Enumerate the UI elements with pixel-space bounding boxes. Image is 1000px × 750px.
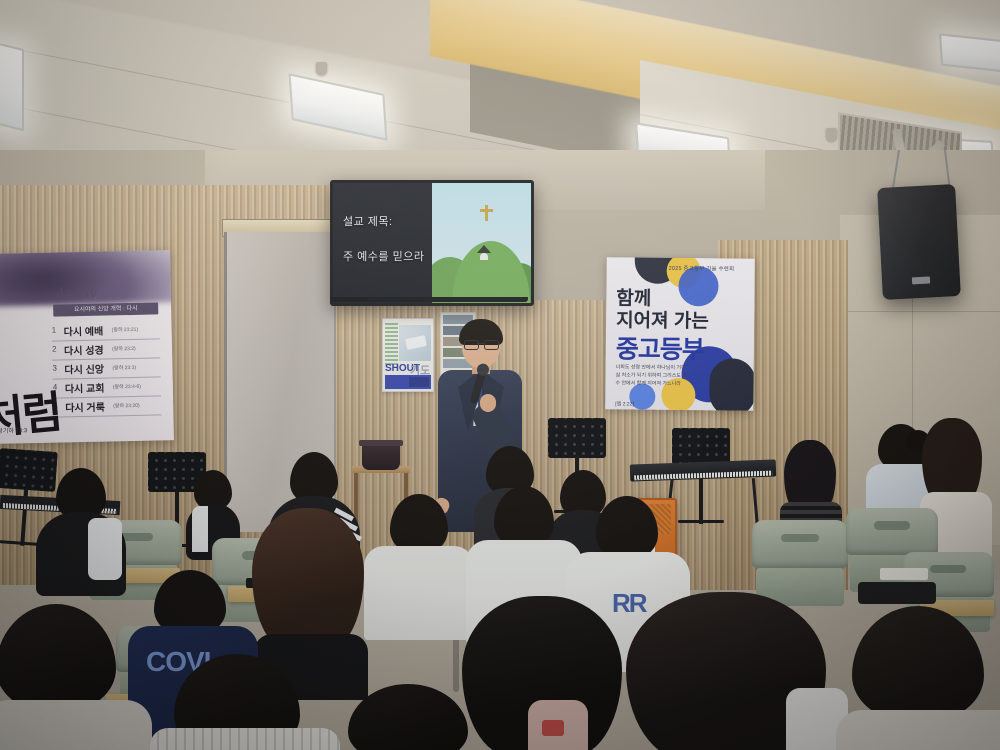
item-ref: (왕하 23:20) <box>113 402 140 410</box>
audience-person <box>150 654 340 750</box>
item-name: 다시 교회 <box>65 380 105 396</box>
eyeglasses-icon <box>464 340 498 348</box>
banner-list-item: 5 다시 거룩 (왕하 23:20) <box>53 396 161 417</box>
red-item <box>542 720 564 736</box>
item-name: 다시 거룩 <box>65 399 105 415</box>
speaker-brand-logo <box>912 276 930 284</box>
ceiling-light-panel <box>939 33 1000 74</box>
banner-list-item: 3 다시 신앙 (왕하 23:3) <box>52 358 160 379</box>
projection-display: 설교 제목: 주 예수를 믿으라 <box>330 180 534 306</box>
display-illustration-panel <box>432 183 531 303</box>
sermon-series-banner: Anew 요시야의 신앙 개혁 : 다시 1 다시 예배 (왕하 23:21) … <box>0 250 174 444</box>
pa-speaker <box>877 184 961 300</box>
booklet <box>880 568 928 580</box>
hill-shape <box>452 241 530 303</box>
audience-person <box>836 606 1000 750</box>
item-number: 1 <box>52 326 57 335</box>
banner-brush-ref: 열왕기하 23:3 <box>0 425 27 435</box>
preacher-hand <box>480 394 496 412</box>
cross-icon <box>485 205 488 221</box>
bag <box>858 582 936 604</box>
item-name: 다시 성경 <box>64 342 104 358</box>
audience-person <box>36 468 126 588</box>
banner-list-item: 1 다시 예배 (왕하 23:21) <box>51 320 159 341</box>
banner-scripture-quote: 너희도 성령 안에서 하나님이 거하실 처소가 되기 위하여 그리스도 예수 안… <box>615 363 687 388</box>
banner-list-item: 4 다시 교회 (왕하 23:4-6) <box>53 377 161 398</box>
banner-scripture-ref: [엡 2:22] <box>615 400 634 407</box>
sprinkler-head <box>316 62 327 75</box>
item-number: 3 <box>52 364 57 373</box>
audience-person <box>0 604 152 750</box>
banner-top-line: 2025 중고등부 가을 수련회 <box>669 264 735 273</box>
banner-script-word: Anew <box>55 284 98 303</box>
photo-scene: Anew 요시야의 신앙 개혁 : 다시 1 다시 예배 (왕하 23:21) … <box>0 0 1000 750</box>
retreat-banner: 2025 중고등부 가을 수련회 함께 지어져 가는 중고등부 너희도 성령 안… <box>605 257 755 411</box>
item-name: 다시 신앙 <box>64 361 104 377</box>
item-ref: (왕하 23:21) <box>112 326 139 334</box>
banner-headline-3: 중고등부 <box>616 329 704 366</box>
church-icon <box>477 245 491 259</box>
item-ref: (왕하 23:2) <box>112 345 136 352</box>
banner-list-item: 2 다시 성경 (왕하 23:2) <box>52 339 160 360</box>
item-name: 다시 예배 <box>64 323 104 339</box>
banner-chip: 요시야의 신앙 개혁 : 다시 <box>53 302 158 316</box>
banner-blob-charcoal <box>709 358 755 410</box>
sermon-label: 설교 제목: <box>343 213 393 229</box>
plant-pot <box>362 440 400 470</box>
banner-chip-label: 요시야의 신앙 개혁 : 다시 <box>53 302 158 316</box>
item-ref: (왕하 23:4-6) <box>113 383 141 391</box>
audience-person <box>626 592 846 750</box>
poster-text-column <box>385 323 398 367</box>
item-number: 2 <box>52 345 57 354</box>
ceiling-light-panel <box>0 39 24 131</box>
display-text-panel: 설교 제목: 주 예수를 믿으라 <box>333 183 432 303</box>
display-bottom-bezel <box>330 297 528 302</box>
audience-person <box>528 700 588 750</box>
item-ref: (왕하 23:3) <box>112 364 136 371</box>
sprinkler-head <box>826 128 837 141</box>
sermon-title: 주 예수를 믿으라 <box>343 248 424 264</box>
audience-person <box>330 684 490 750</box>
